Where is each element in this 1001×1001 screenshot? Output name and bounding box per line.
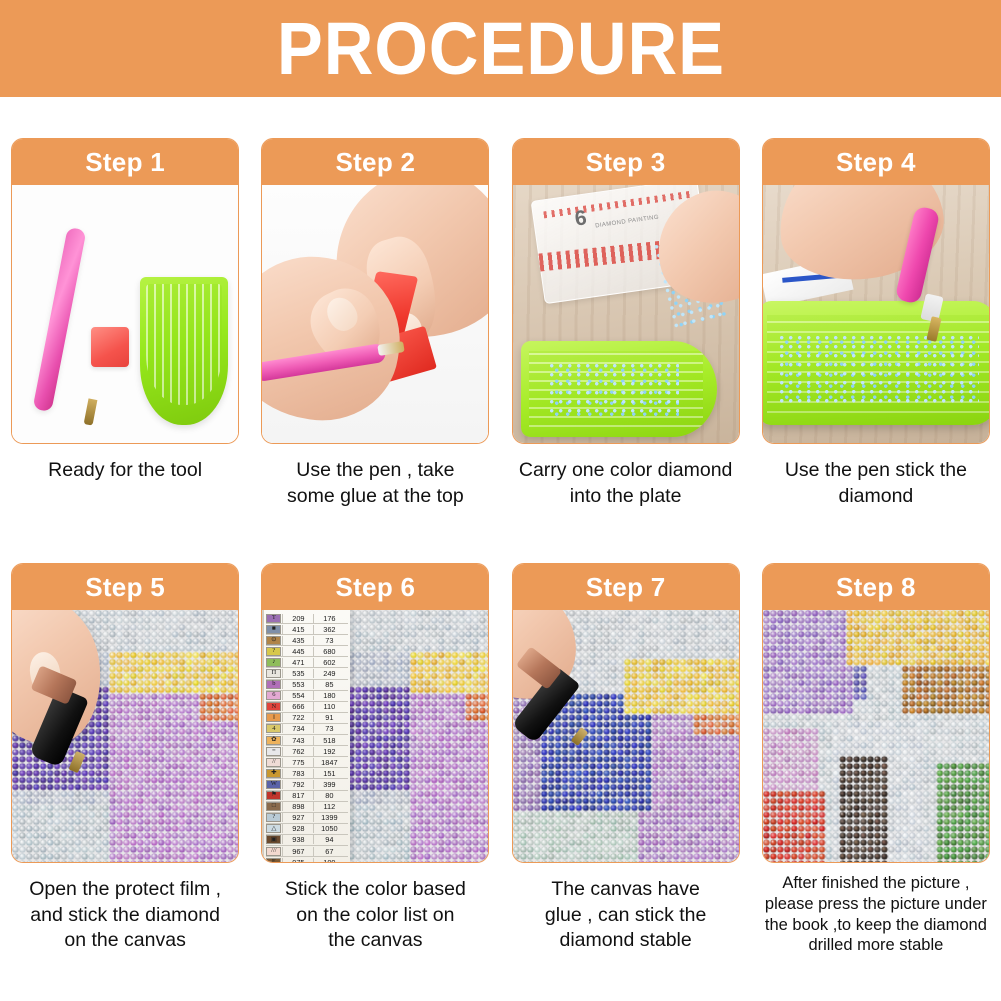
pink-pen-icon <box>33 227 87 412</box>
step-1-caption: Ready for the tool <box>7 458 243 484</box>
blue-diamonds-in-tray <box>549 363 679 417</box>
color-swatch-symbol: □ <box>266 802 281 811</box>
color-list-chart: T209176■415362⊙43573?445680♪471602Π53524… <box>264 610 350 862</box>
color-swatch-symbol: ⊙ <box>266 636 281 645</box>
step-4-caption: Use the pen stick the diamond <box>758 458 994 509</box>
step-1-card: Step 1 <box>11 138 239 444</box>
color-code-value: 762 <box>282 747 313 756</box>
color-chart-row: 6554180 <box>266 691 348 702</box>
step-card-1: Step 1 Ready for the tool <box>0 138 250 509</box>
color-chart-row: N666110 <box>266 702 348 713</box>
color-swatch-symbol: ■ <box>266 625 281 634</box>
color-swatch-symbol: b <box>266 680 281 689</box>
step-3-header: Step 3 <box>513 139 739 185</box>
step-3-photo: 6 DIAMOND PAINTING <box>513 185 739 443</box>
color-count-value: 1050 <box>313 824 344 833</box>
color-swatch-symbol: N <box>266 702 281 711</box>
step-5-caption: Open the protect film , and stick the di… <box>7 877 243 954</box>
step-4-header: Step 4 <box>763 139 989 185</box>
color-chart-row: ⊙43573 <box>266 635 348 646</box>
color-code-value: 938 <box>282 835 313 844</box>
color-count-value: 399 <box>313 780 344 789</box>
step-3-caption: Carry one color diamond into the plate <box>508 458 744 509</box>
step-7-card: Step 7 <box>512 563 740 863</box>
color-code-value: 734 <box>282 724 313 733</box>
color-swatch-symbol: ♪ <box>266 658 281 667</box>
color-code-value: 722 <box>282 713 313 722</box>
color-count-value: 67 <box>313 847 344 856</box>
blue-diamonds-in-tray <box>779 335 979 405</box>
color-count-value: 151 <box>313 769 344 778</box>
color-swatch-symbol: Π <box>266 669 281 678</box>
color-code-value: 928 <box>282 824 313 833</box>
step-4-card: Step 4 <box>762 138 990 444</box>
color-count-value: 91 <box>313 713 344 722</box>
step-3-card: Step 3 6 DIAMOND PAINTING <box>512 138 740 444</box>
step-7-photo <box>513 610 739 862</box>
color-chart-row: ⚑81780 <box>266 791 348 802</box>
color-code-value: 209 <box>282 614 313 623</box>
diamond-canvas-mosaic <box>763 610 989 862</box>
color-code-value: 775 <box>282 758 313 767</box>
color-swatch-symbol: ‖ <box>266 713 281 722</box>
color-swatch-symbol: T <box>266 614 281 623</box>
color-count-value: 94 <box>313 835 344 844</box>
color-swatch-symbol: ? <box>266 813 281 822</box>
color-swatch-symbol: 4 <box>266 724 281 733</box>
step-card-7: Step 7 The canvas have glue <box>501 563 751 956</box>
color-swatch-symbol: E <box>266 858 281 862</box>
color-count-value: 249 <box>313 669 344 678</box>
steps-row-top: Step 1 Ready for the tool Step 2 <box>0 138 1001 509</box>
step-2-photo <box>262 185 488 443</box>
step-card-8: Step 8 After finished the picture , plea… <box>751 563 1001 956</box>
color-count-value: 362 <box>313 625 344 634</box>
step-5-body <box>12 610 238 862</box>
color-swatch-symbol: W <box>266 780 281 789</box>
color-chart-row: ‖72291 <box>266 713 348 724</box>
step-5-photo <box>12 610 238 862</box>
page-title: PROCEDURE <box>276 12 724 86</box>
color-chart-row: //7751847 <box>266 757 348 768</box>
color-chart-row: 473473 <box>266 724 348 735</box>
color-code-value: 975 <box>282 858 313 862</box>
step-1-header: Step 1 <box>12 139 238 185</box>
step-6-card: Step 6 T209176■415362⊙43573?445680♪47160… <box>261 563 489 863</box>
color-code-value: 666 <box>282 702 313 711</box>
step-1-body <box>12 185 238 443</box>
color-code-value: 783 <box>282 769 313 778</box>
step-4-body <box>763 185 989 443</box>
step-2-header: Step 2 <box>262 139 488 185</box>
color-count-value: 180 <box>313 691 344 700</box>
color-count-value: 680 <box>313 647 344 656</box>
color-count-value: 1399 <box>313 813 344 822</box>
color-chart-row: W792399 <box>266 779 348 790</box>
step-2-caption: Use the pen , take some glue at the top <box>257 458 493 509</box>
color-swatch-symbol: = <box>266 747 281 756</box>
color-count-value: 73 <box>313 724 344 733</box>
color-chart-row: E975109 <box>266 857 348 862</box>
color-code-value: 792 <box>282 780 313 789</box>
color-chart-row: Π535249 <box>266 668 348 679</box>
color-count-value: 192 <box>313 747 344 756</box>
step-card-6: Step 6 T209176■415362⊙43573?445680♪47160… <box>250 563 500 956</box>
color-code-value: 967 <box>282 847 313 856</box>
step-6-body: T209176■415362⊙43573?445680♪471602Π53524… <box>262 610 488 862</box>
color-swatch-symbol: ▣ <box>266 835 281 844</box>
color-chart-row: ▣93894 <box>266 835 348 846</box>
color-code-value: 471 <box>282 658 313 667</box>
color-swatch-symbol: 6 <box>266 691 281 700</box>
step-8-card: Step 8 <box>762 563 990 863</box>
step-1-photo <box>12 185 238 443</box>
step-3-body: 6 DIAMOND PAINTING <box>513 185 739 443</box>
color-count-value: 112 <box>313 802 344 811</box>
color-swatch-symbol: ⚑ <box>266 791 281 800</box>
pen-tip-icon <box>84 398 98 425</box>
color-code-value: 535 <box>282 669 313 678</box>
step-7-header: Step 7 <box>513 564 739 610</box>
red-wax-icon <box>91 327 129 367</box>
color-swatch-symbol: // <box>266 758 281 767</box>
step-6-header: Step 6 <box>262 564 488 610</box>
color-swatch-symbol: ? <box>266 647 281 656</box>
color-chart-row: T209176 <box>266 613 348 624</box>
steps-grid: Step 1 Ready for the tool Step 2 <box>0 97 1001 1001</box>
color-swatch-symbol: ✚ <box>266 769 281 778</box>
step-2-body <box>262 185 488 443</box>
color-chart-row: ♪471602 <box>266 657 348 668</box>
color-chart-row: ■415362 <box>266 624 348 635</box>
color-chart-row: ?445680 <box>266 646 348 657</box>
color-chart-row: b55385 <box>266 680 348 691</box>
step-8-header: Step 8 <box>763 564 989 610</box>
step-7-caption: The canvas have glue , can stick the dia… <box>508 877 744 954</box>
color-code-value: 743 <box>282 736 313 745</box>
color-code-value: 554 <box>282 691 313 700</box>
step-card-3: Step 3 6 DIAMOND PAINTING <box>501 138 751 509</box>
step-5-header: Step 5 <box>12 564 238 610</box>
color-chart-row: △9281050 <box>266 824 348 835</box>
color-count-value: 109 <box>313 858 344 862</box>
color-count-value: 1847 <box>313 758 344 767</box>
color-code-value: 817 <box>282 791 313 800</box>
color-swatch-symbol: ✿ <box>266 736 281 745</box>
step-7-body <box>513 610 739 862</box>
color-code-value: 927 <box>282 813 313 822</box>
color-code-value: 415 <box>282 625 313 634</box>
color-count-value: 518 <box>313 736 344 745</box>
color-chart-row: ✿743518 <box>266 735 348 746</box>
step-card-5: Step 5 Open t <box>0 563 250 956</box>
color-chart-row: ✚783151 <box>266 768 348 779</box>
color-count-value: 73 <box>313 636 344 645</box>
color-swatch-symbol: /// <box>266 847 281 856</box>
color-count-value: 80 <box>313 791 344 800</box>
header-banner: PROCEDURE <box>0 0 1001 97</box>
color-chart-row: ///96767 <box>266 846 348 857</box>
step-card-4: Step 4 Use the pen stick the d <box>751 138 1001 509</box>
step-8-body <box>763 610 989 862</box>
color-code-value: 445 <box>282 647 313 656</box>
step-6-caption: Stick the color based on the color list … <box>257 877 493 954</box>
step-6-photo: T209176■415362⊙43573?445680♪471602Π53524… <box>262 610 488 862</box>
color-chart-row: ?9271399 <box>266 813 348 824</box>
step-card-2: Step 2 <box>250 138 500 509</box>
steps-row-bottom: Step 5 Open t <box>0 563 1001 956</box>
step-2-card: Step 2 <box>261 138 489 444</box>
step-8-caption: After finished the picture , please pres… <box>753 873 999 956</box>
color-count-value: 602 <box>313 658 344 667</box>
color-chart-row: =762192 <box>266 746 348 757</box>
color-code-value: 553 <box>282 680 313 689</box>
color-code-value: 435 <box>282 636 313 645</box>
diamond-canvas-mosaic <box>348 610 488 862</box>
color-count-value: 110 <box>313 702 344 711</box>
procedure-infographic: PROCEDURE Step 1 Rea <box>0 0 1001 1001</box>
step-4-photo <box>763 185 989 443</box>
color-count-value: 176 <box>313 614 344 623</box>
color-count-value: 85 <box>313 680 344 689</box>
color-chart-row: □898112 <box>266 802 348 813</box>
step-5-card: Step 5 <box>11 563 239 863</box>
color-code-value: 898 <box>282 802 313 811</box>
step-8-photo <box>763 610 989 862</box>
color-swatch-symbol: △ <box>266 824 281 833</box>
green-tray-icon <box>140 277 228 425</box>
